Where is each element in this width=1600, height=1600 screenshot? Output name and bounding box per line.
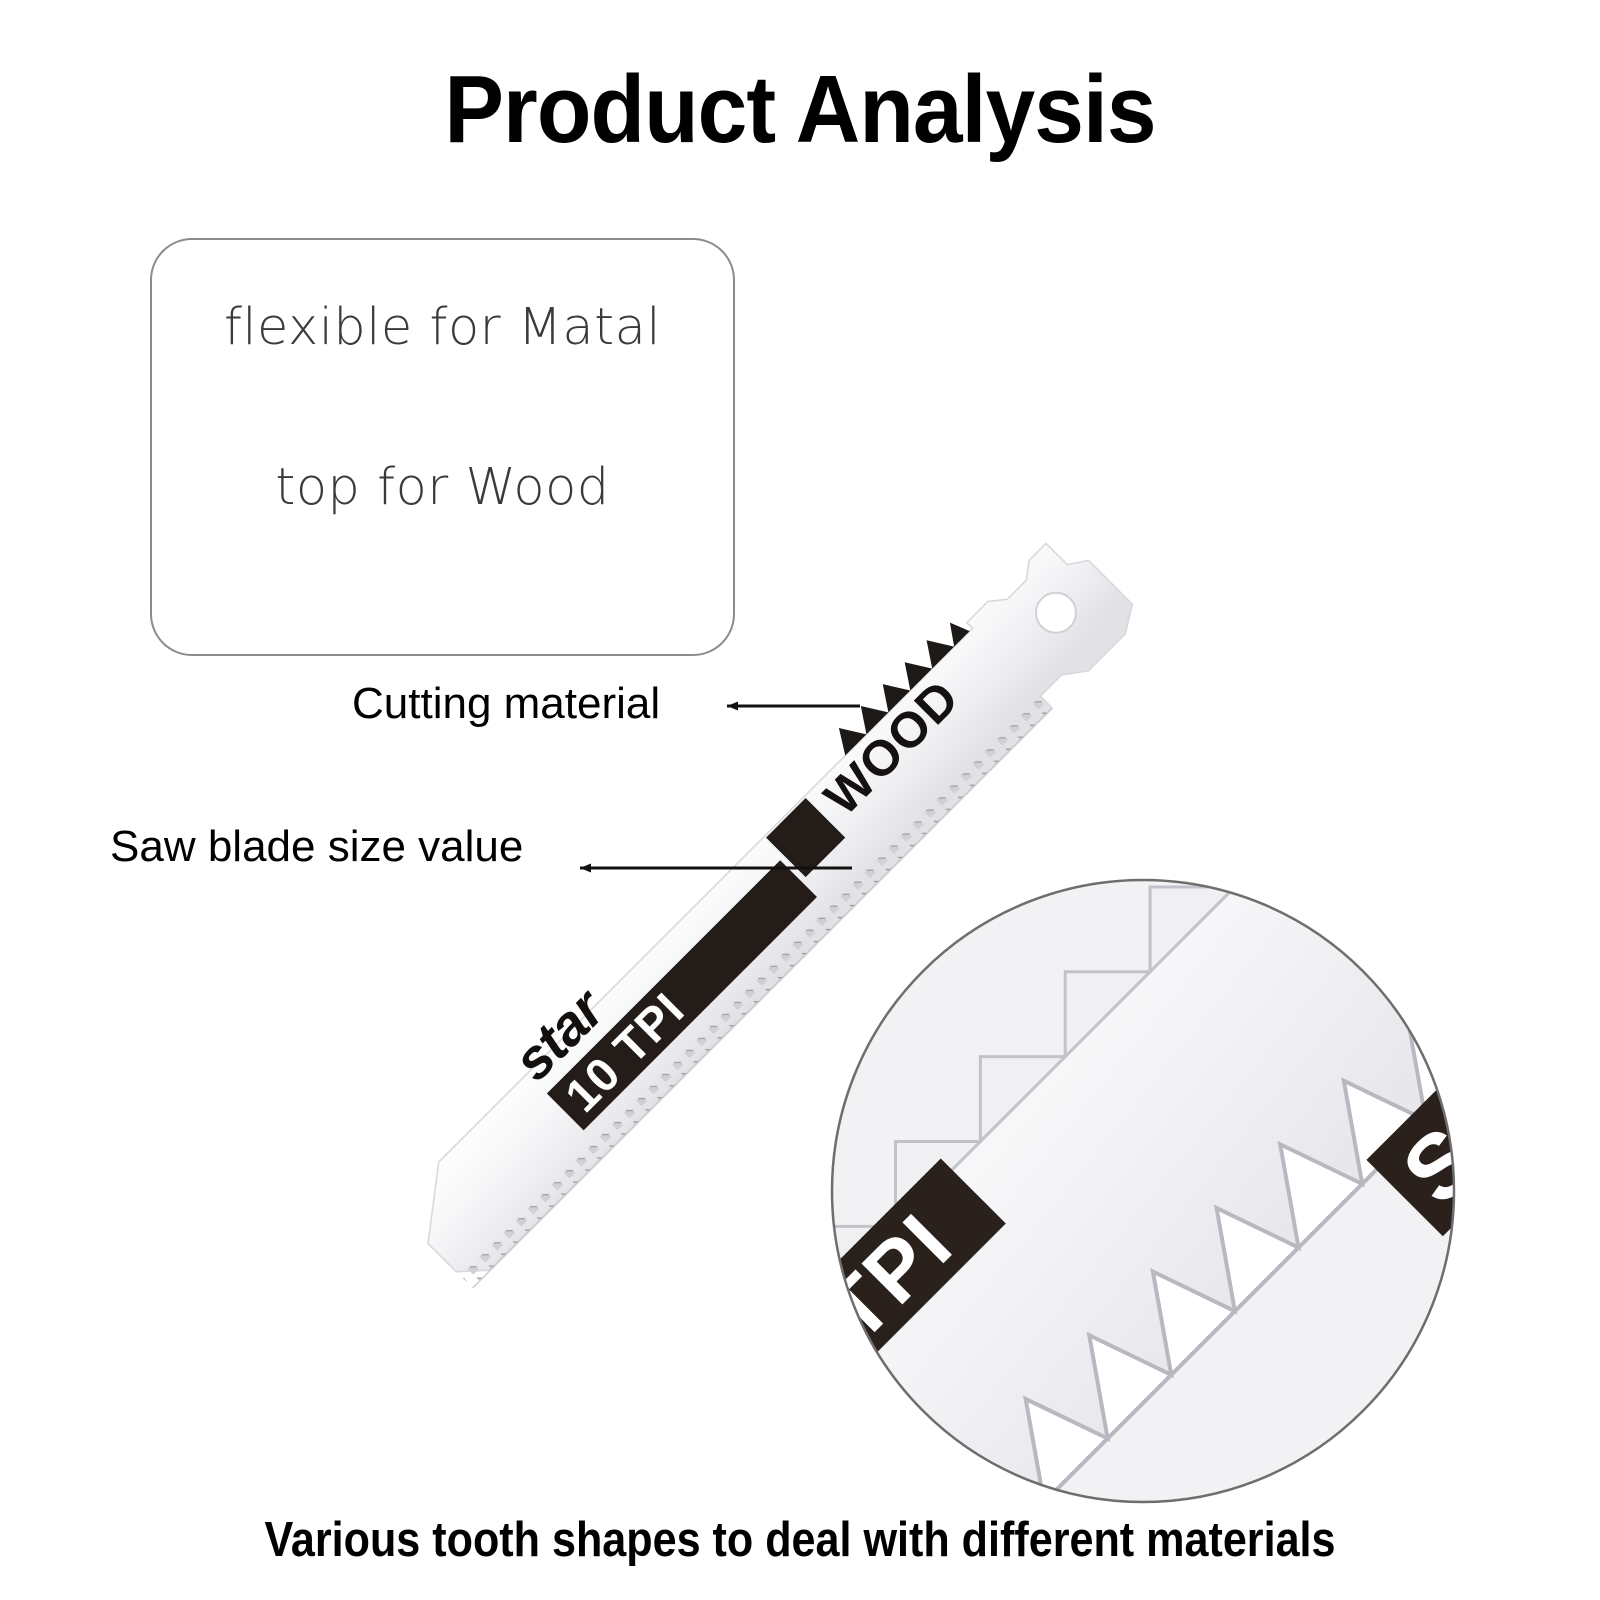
- infographic-canvas: Product Analysis flexible for Matal top …: [0, 0, 1600, 1600]
- bottom-caption: Various tooth shapes to deal with differ…: [96, 1512, 1504, 1568]
- callout-label-cutting-material: Cutting material: [352, 679, 660, 729]
- magnifier-detail-view: 10 TPI S6: [830, 878, 1456, 1504]
- callout-label-saw-blade-size: Saw blade size value: [110, 822, 523, 872]
